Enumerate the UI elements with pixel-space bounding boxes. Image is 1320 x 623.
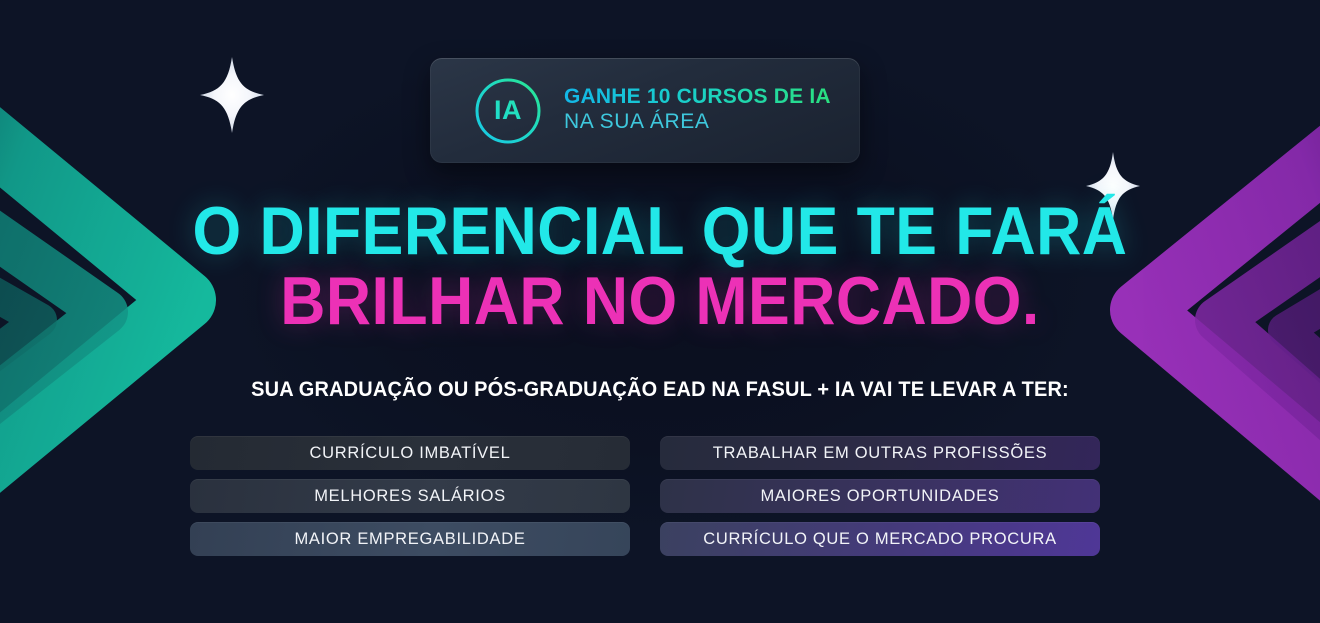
benefits-grid: CURRÍCULO IMBATÍVEL TRABALHAR EM OUTRAS … [190,436,1100,556]
main-headline: O DIFERENCIAL QUE TE FARÁ BRILHAR NO MER… [0,196,1320,336]
benefit-pill: MAIOR EMPREGABILIDADE [190,522,630,556]
subtitle-text: SUA GRADUAÇÃO OU PÓS-GRADUAÇÃO EAD NA FA… [33,378,1287,402]
headline-line-1: O DIFERENCIAL QUE TE FARÁ [53,196,1267,266]
sparkle-star-left [200,57,264,133]
benefit-pill: MELHORES SALÁRIOS [190,479,630,513]
ia-label: IA [474,77,542,145]
ia-circle-icon: IA [474,77,542,145]
ai-courses-badge: IA GANHE 10 CURSOS DE IA NA SUA ÁREA [430,58,860,163]
badge-headline: GANHE 10 CURSOS DE IA [564,85,831,109]
headline-line-2: BRILHAR NO MERCADO. [53,266,1267,336]
promo-banner: IA GANHE 10 CURSOS DE IA NA SUA ÁREA O D… [0,0,1320,623]
benefit-pill: TRABALHAR EM OUTRAS PROFISSÕES [660,436,1100,470]
badge-subheadline: NA SUA ÁREA [564,110,831,134]
benefit-pill: CURRÍCULO QUE O MERCADO PROCURA [660,522,1100,556]
benefit-pill: MAIORES OPORTUNIDADES [660,479,1100,513]
benefit-pill: CURRÍCULO IMBATÍVEL [190,436,630,470]
